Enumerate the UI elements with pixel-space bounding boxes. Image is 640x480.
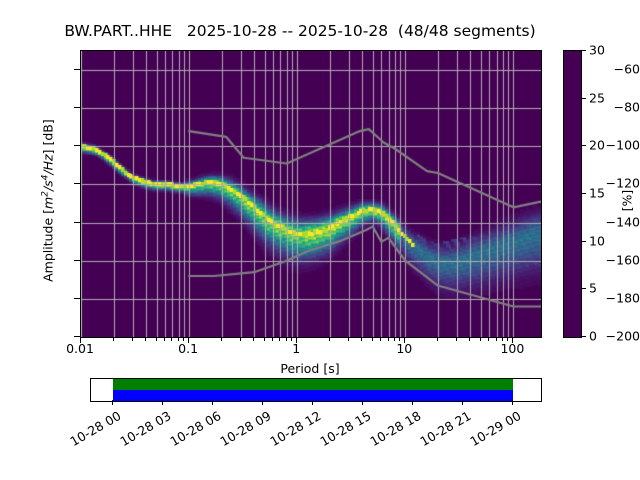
y-axis-label: Amplitude [m2/s4/Hz] [dB] (40, 61, 55, 341)
x-minor-tick-mark (286, 337, 287, 341)
colorbar-tick-mark (581, 193, 586, 194)
colorbar-tick-label: 0 (589, 329, 597, 344)
colorbar-tick-label: 10 (589, 233, 605, 248)
timeline-tick-label: 10-28 09 (217, 408, 273, 449)
timeline-tick-label: 10-29 00 (467, 408, 523, 449)
x-minor-tick-mark (507, 337, 508, 341)
x-minor-tick-mark (469, 337, 470, 341)
colorbar-tick-mark (581, 241, 586, 242)
x-minor-tick-mark (437, 337, 438, 341)
x-minor-tick-mark (399, 337, 400, 341)
y-tick-label: −60 (576, 62, 640, 77)
data-coverage-bar (113, 379, 513, 390)
y-tick-mark (74, 107, 80, 108)
ppsd-figure: BW.PART..HHE 2025-10-28 -- 2025-10-28 (4… (0, 0, 640, 480)
timeline-tick-mark (512, 400, 513, 405)
x-minor-tick-mark (380, 337, 381, 341)
noise-model-overlay-canvas (81, 51, 541, 337)
x-minor-tick-mark (456, 337, 457, 341)
timeline-tick-label: 10-28 21 (417, 408, 473, 449)
colorbar-tick-mark (581, 288, 586, 289)
x-minor-tick-mark (240, 337, 241, 341)
x-minor-tick-mark (480, 337, 481, 341)
x-minor-tick-mark (361, 337, 362, 341)
timeline-tick-mark (362, 400, 363, 405)
colorbar-tick-label: 25 (589, 90, 605, 105)
timeline-tick-mark (262, 400, 263, 405)
y-axis-unit-s: /s (41, 180, 56, 191)
x-minor-tick-mark (164, 337, 165, 341)
timeline-tick-label: 10-28 18 (367, 408, 423, 449)
timeline-tick-label: 10-28 00 (67, 408, 123, 449)
x-minor-tick-mark (183, 337, 184, 341)
x-tick-label: 1 (261, 341, 331, 356)
x-minor-tick-mark (348, 337, 349, 341)
timeline-tick-mark (162, 400, 163, 405)
x-minor-tick-mark (496, 337, 497, 341)
y-axis-unit-exp4: 4 (40, 175, 50, 181)
y-tick-mark (74, 222, 80, 223)
x-minor-tick-mark (221, 337, 222, 341)
colorbar-tick-label: 30 (589, 43, 605, 58)
x-minor-tick-mark (132, 337, 133, 341)
timeline-tick-label: 10-28 15 (317, 408, 373, 449)
y-tick-mark (74, 260, 80, 261)
x-tick-label: 100 (477, 341, 547, 356)
y-axis-unit-hz: /Hz (41, 154, 56, 174)
colorbar-tick-label: 5 (589, 281, 597, 296)
x-minor-tick-mark (502, 337, 503, 341)
timeline-coverage[interactable] (90, 378, 542, 402)
x-minor-tick-mark (272, 337, 273, 341)
colorbar-gradient (564, 51, 581, 337)
timeline-tick-mark (112, 400, 113, 405)
colorbar-label: [%] (620, 166, 635, 236)
x-axis-label: Period [s] (80, 361, 540, 376)
y-tick-label: −180 (576, 290, 640, 305)
y-tick-mark (74, 145, 80, 146)
x-minor-tick-mark (291, 337, 292, 341)
y-axis-unit-m: m (41, 197, 56, 209)
y-axis-label-suffix: ] [dB] (41, 119, 56, 154)
y-tick-mark (74, 183, 80, 184)
x-minor-tick-mark (372, 337, 373, 341)
colorbar-tick-label: 15 (589, 186, 605, 201)
y-tick-mark (74, 69, 80, 70)
y-axis-unit-exp2: 2 (40, 191, 50, 197)
colorbar-tick-mark (581, 98, 586, 99)
timeline-tick-mark (312, 400, 313, 405)
colorbar-tick-mark (581, 50, 586, 51)
x-minor-tick-mark (156, 337, 157, 341)
x-tick-label: 0.01 (45, 341, 115, 356)
psd-segments-bar (113, 390, 513, 401)
x-minor-tick-mark (178, 337, 179, 341)
timeline-tick-mark (412, 400, 413, 405)
x-minor-tick-mark (264, 337, 265, 341)
timeline-tick-mark (212, 400, 213, 405)
timeline-tick-label: 10-28 06 (167, 408, 223, 449)
timeline-tick-mark (462, 400, 463, 405)
x-minor-tick-mark (329, 337, 330, 341)
x-minor-tick-mark (113, 337, 114, 341)
y-axis-label-prefix: Amplitude [ (41, 209, 56, 282)
x-minor-tick-mark (488, 337, 489, 341)
timeline-tick-label: 10-28 03 (117, 408, 173, 449)
ppsd-plot-area[interactable] (80, 50, 542, 338)
y-tick-label: −160 (576, 252, 640, 267)
colorbar[interactable] (563, 50, 582, 338)
y-tick-label: −80 (576, 100, 640, 115)
colorbar-tick-mark (581, 336, 586, 337)
y-tick-mark (74, 298, 80, 299)
x-minor-tick-mark (145, 337, 146, 341)
colorbar-tick-label: 20 (589, 138, 605, 153)
x-minor-tick-mark (394, 337, 395, 341)
x-tick-label: 10 (369, 341, 439, 356)
timeline-tick-label: 10-28 12 (267, 408, 323, 449)
colorbar-tick-mark (581, 145, 586, 146)
x-minor-tick-mark (279, 337, 280, 341)
x-minor-tick-mark (171, 337, 172, 341)
x-tick-label: 0.1 (153, 341, 223, 356)
page-title: BW.PART..HHE 2025-10-28 -- 2025-10-28 (4… (0, 22, 600, 40)
x-minor-tick-mark (388, 337, 389, 341)
x-minor-tick-mark (253, 337, 254, 341)
